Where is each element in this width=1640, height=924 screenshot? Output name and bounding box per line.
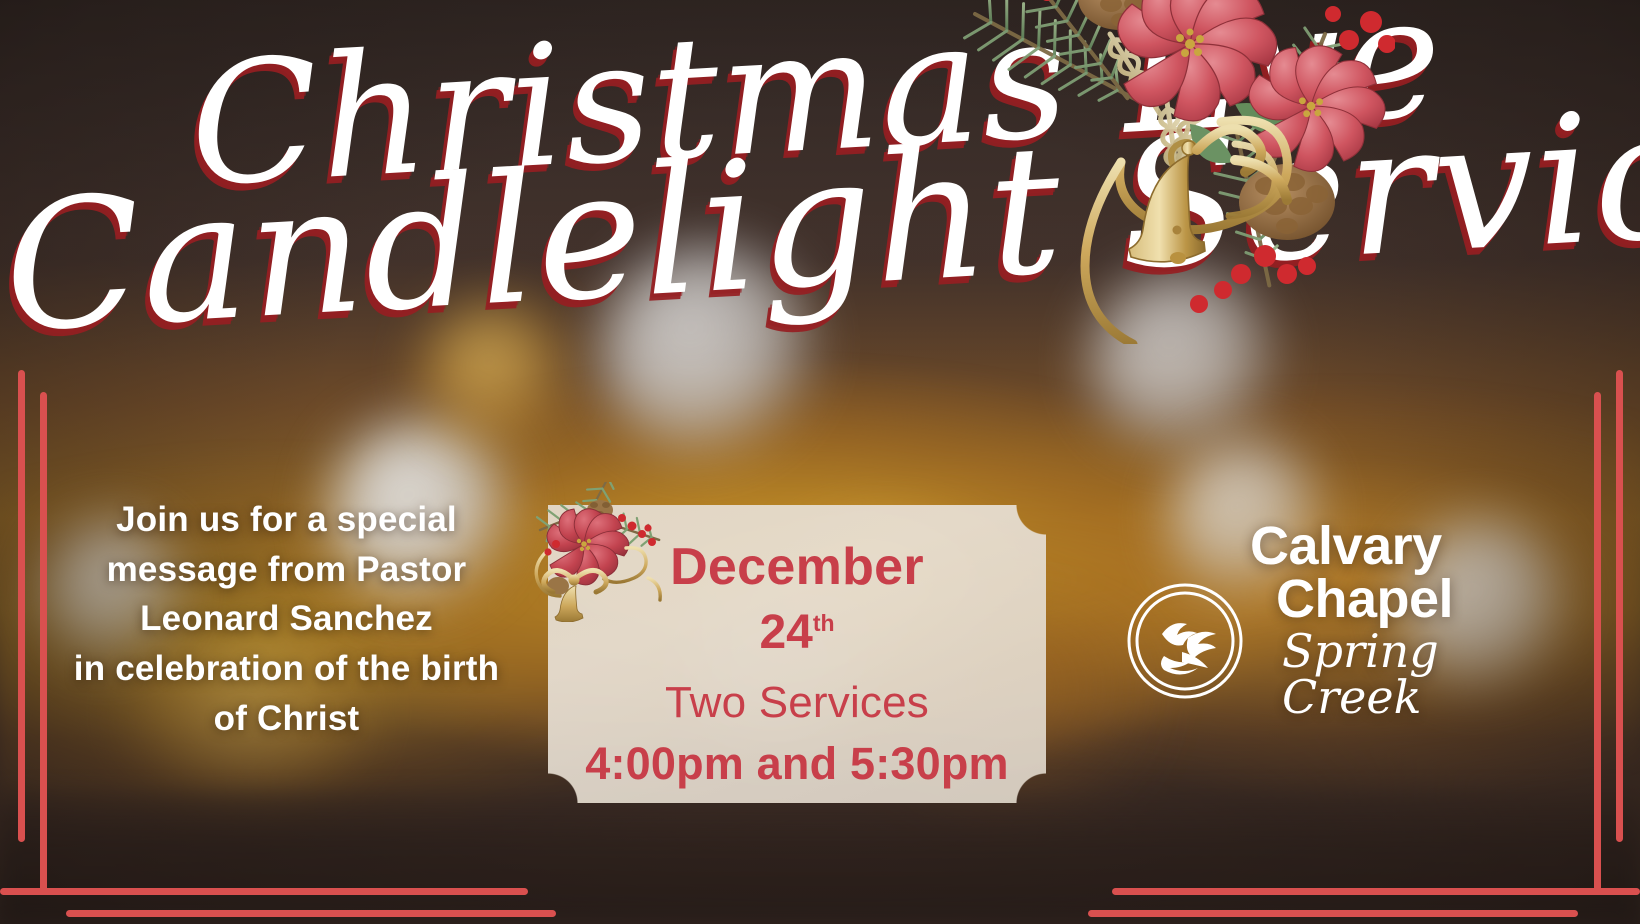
event-times: 4:00pm and 5:30pm [585,741,1009,786]
invitation-line-4: in celebration of the birth [44,644,529,694]
frame-line-right-outer [1616,370,1623,842]
logo-name-line-1: Calvary [1250,516,1442,576]
event-details-content: December 24th Two Services 4:00pm and 5:… [548,505,1046,803]
event-day: 24th [759,609,834,657]
event-day-number: 24 [759,606,812,659]
invitation-line-1: Join us for a special [44,495,529,545]
frame-line-bottom-right-lower [1088,910,1578,917]
frame-line-bottom-left-upper [0,888,528,895]
invitation-line-2: message from Pastor [44,545,529,595]
logo-name-line-2: Chapel [1250,573,1453,626]
christmas-eve-poster: Christmas Eve Candlelight Service [0,0,1640,924]
logo-subtitle: Spring Creek [1282,628,1510,720]
invitation-line-5: of Christ [44,694,529,744]
invitation-message: Join us for a special message from Pasto… [44,495,529,743]
dove-circle-svg [1126,582,1244,700]
frame-line-bottom-right-upper [1112,888,1640,895]
logo-wordmark: Calvary Chapel [1250,520,1453,626]
frame-line-bottom-left-lower [66,910,556,917]
event-services-label: Two Services [665,681,929,725]
frame-line-left-outer [18,370,25,842]
invitation-line-3: Leonard Sanchez [44,594,529,644]
event-month: December [670,541,924,593]
dove-in-circle-icon [1126,582,1244,700]
event-day-suffix: th [813,610,835,636]
church-logo: Calvary Chapel Spring Creek [1110,520,1510,720]
frame-line-right-inner [1594,392,1601,892]
